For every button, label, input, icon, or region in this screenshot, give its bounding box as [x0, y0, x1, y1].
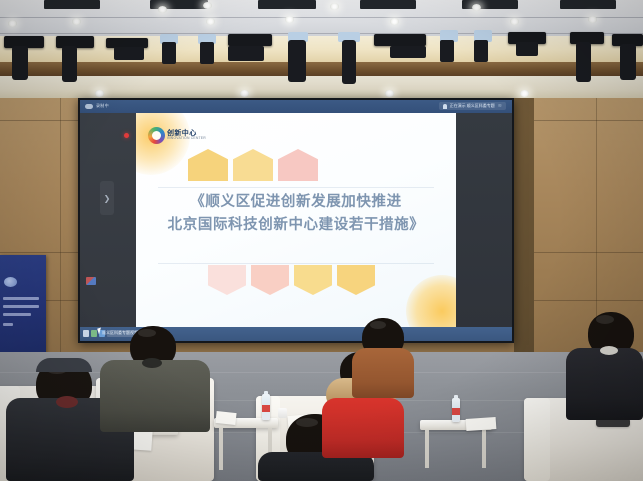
- app-top-bar: 录制中 正在演示 顺义区科委专题 ≋: [80, 100, 512, 113]
- banner-text-line: [3, 305, 39, 308]
- mouse-pointer-icon: [97, 328, 103, 335]
- downlight-icon: [72, 18, 81, 25]
- ceiling-seam: [0, 33, 643, 34]
- person-collar: [56, 396, 78, 408]
- downlight-icon: [8, 20, 17, 27]
- pentagon-shape: [278, 149, 318, 181]
- stage-light-body: [576, 42, 591, 82]
- downlight-icon: [240, 90, 249, 97]
- downlight-icon: [588, 16, 597, 23]
- left-panel: ❯: [80, 113, 136, 327]
- person-body: [352, 348, 414, 398]
- presenting-status[interactable]: 正在演示 顺义区科委专题 ≋: [439, 102, 506, 110]
- downlight-icon: [510, 18, 519, 25]
- decor-glow-top-left: [136, 113, 190, 175]
- bottle-cap: [454, 395, 458, 398]
- stage-light-body: [200, 42, 214, 64]
- table-leg: [219, 428, 223, 470]
- stage-light: [228, 34, 272, 46]
- stage-light-body: [620, 44, 636, 80]
- person-collar: [142, 358, 162, 368]
- pentagon-shape: [337, 265, 375, 295]
- person-body: [566, 348, 643, 420]
- stage-light-body: [288, 40, 306, 82]
- person-body: [322, 398, 404, 458]
- sofa-arm: [524, 398, 550, 481]
- right-panel: [456, 113, 512, 327]
- hair-highlight: [370, 321, 386, 329]
- stage-light-body: [516, 42, 538, 56]
- projection-screen: 录制中 正在演示 顺义区科委专题 ≋ ❯ 创新中心 INNOVATION CEN…: [80, 100, 512, 341]
- carpet-line: [0, 372, 643, 373]
- decor-hairline: [158, 187, 434, 188]
- banner-text-line: [3, 297, 39, 300]
- ceiling-panel: [560, 0, 616, 9]
- slide-logo-subtitle: INNOVATION CENTER: [167, 137, 206, 141]
- window-icon[interactable]: [83, 330, 89, 337]
- recording-status: 录制中: [85, 103, 109, 109]
- stage-light-body: [12, 46, 28, 80]
- ceiling-panel: [44, 0, 100, 9]
- downlight-icon: [385, 90, 394, 97]
- downlight-icon: [330, 3, 339, 10]
- document-paper: [466, 417, 497, 431]
- bottle-label: [452, 408, 460, 415]
- chevron-right-icon[interactable]: ❯: [100, 181, 114, 215]
- ceiling-panel: [360, 0, 416, 9]
- decor-pentagons-top: [188, 149, 318, 181]
- presenting-label: 正在演示 顺义区科委专题: [450, 103, 495, 109]
- standing-banner: [0, 255, 46, 360]
- stage-light-body: [474, 40, 488, 62]
- stage-light-body: [342, 40, 356, 84]
- user-icon: [443, 104, 447, 109]
- downlight-icon: [285, 16, 294, 23]
- water-bottle: [452, 398, 460, 422]
- downlight-icon: [206, 18, 215, 25]
- document-paper: [215, 411, 236, 425]
- color-ring-logo-icon: [148, 127, 165, 144]
- decor-glow-bottom-right: [406, 275, 456, 327]
- banner-logo-icon: [4, 277, 17, 287]
- ceiling-panel: [258, 0, 316, 9]
- banner-text-line: [3, 313, 31, 316]
- slide-title-line-2: 北京国际科技创新中心建设若干措施》: [136, 214, 456, 237]
- table-leg: [482, 430, 486, 468]
- banner-text-line: [3, 323, 13, 326]
- downlight-icon: [158, 6, 167, 13]
- presentation-slide: 创新中心 INNOVATION CENTER 《顺义区促进创新发展加快推进 北京…: [136, 113, 456, 327]
- bottle-cap: [264, 391, 268, 394]
- pentagon-shape: [208, 265, 246, 295]
- stage-light: [374, 34, 426, 46]
- pentagon-shape: [294, 265, 332, 295]
- hair-highlight: [296, 418, 318, 427]
- wall-seam: [60, 98, 61, 352]
- person-body: [100, 360, 210, 432]
- downlight-icon: [390, 18, 399, 25]
- lighting-truss: [0, 62, 643, 76]
- pentagon-shape: [188, 149, 228, 181]
- recording-label: 录制中: [96, 103, 109, 109]
- hair-highlight: [138, 329, 156, 337]
- wifi-icon: ≋: [498, 103, 502, 109]
- downlight-icon: [203, 2, 212, 9]
- slide-title-line-1: 《顺义区促进创新发展加快推进: [136, 191, 456, 214]
- wall-pillar: [514, 98, 534, 352]
- pentagon-shape: [251, 265, 289, 295]
- paper-cup: [278, 408, 287, 418]
- slide-logo: 创新中心 INNOVATION CENTER: [148, 127, 206, 144]
- conference-hall-photo: 录制中 正在演示 顺义区科委专题 ≋ ❯ 创新中心 INNOVATION CEN…: [0, 0, 643, 481]
- folder-icon[interactable]: [91, 330, 97, 337]
- stage-light-body: [228, 46, 264, 61]
- ceiling-panel: [462, 0, 518, 9]
- downlight-icon: [95, 90, 104, 97]
- stage-light-body: [62, 46, 77, 82]
- bottle-label: [262, 405, 270, 412]
- hair-highlight: [596, 315, 614, 324]
- downlight-icon: [520, 90, 529, 97]
- stage-light-body: [114, 47, 144, 60]
- slide-title: 《顺义区促进创新发展加快推进 北京国际科技创新中心建设若干措施》: [136, 191, 456, 238]
- decor-pentagons-bottom: [208, 265, 375, 295]
- person-cap: [36, 358, 92, 372]
- record-dot-icon: [124, 133, 129, 138]
- table-leg: [425, 430, 429, 468]
- person-collar: [600, 346, 618, 355]
- stage-light-body: [162, 42, 176, 64]
- downlight-icon: [472, 4, 481, 11]
- stage-light-body: [440, 40, 454, 62]
- app-icon[interactable]: [86, 277, 96, 285]
- pentagon-shape: [233, 149, 273, 181]
- ceiling-seam: [0, 17, 643, 18]
- cloud-icon: [85, 104, 93, 109]
- wall-seam: [596, 98, 597, 352]
- decor-hairline: [158, 263, 434, 264]
- water-bottle: [262, 394, 270, 420]
- stage-light-body: [390, 46, 426, 58]
